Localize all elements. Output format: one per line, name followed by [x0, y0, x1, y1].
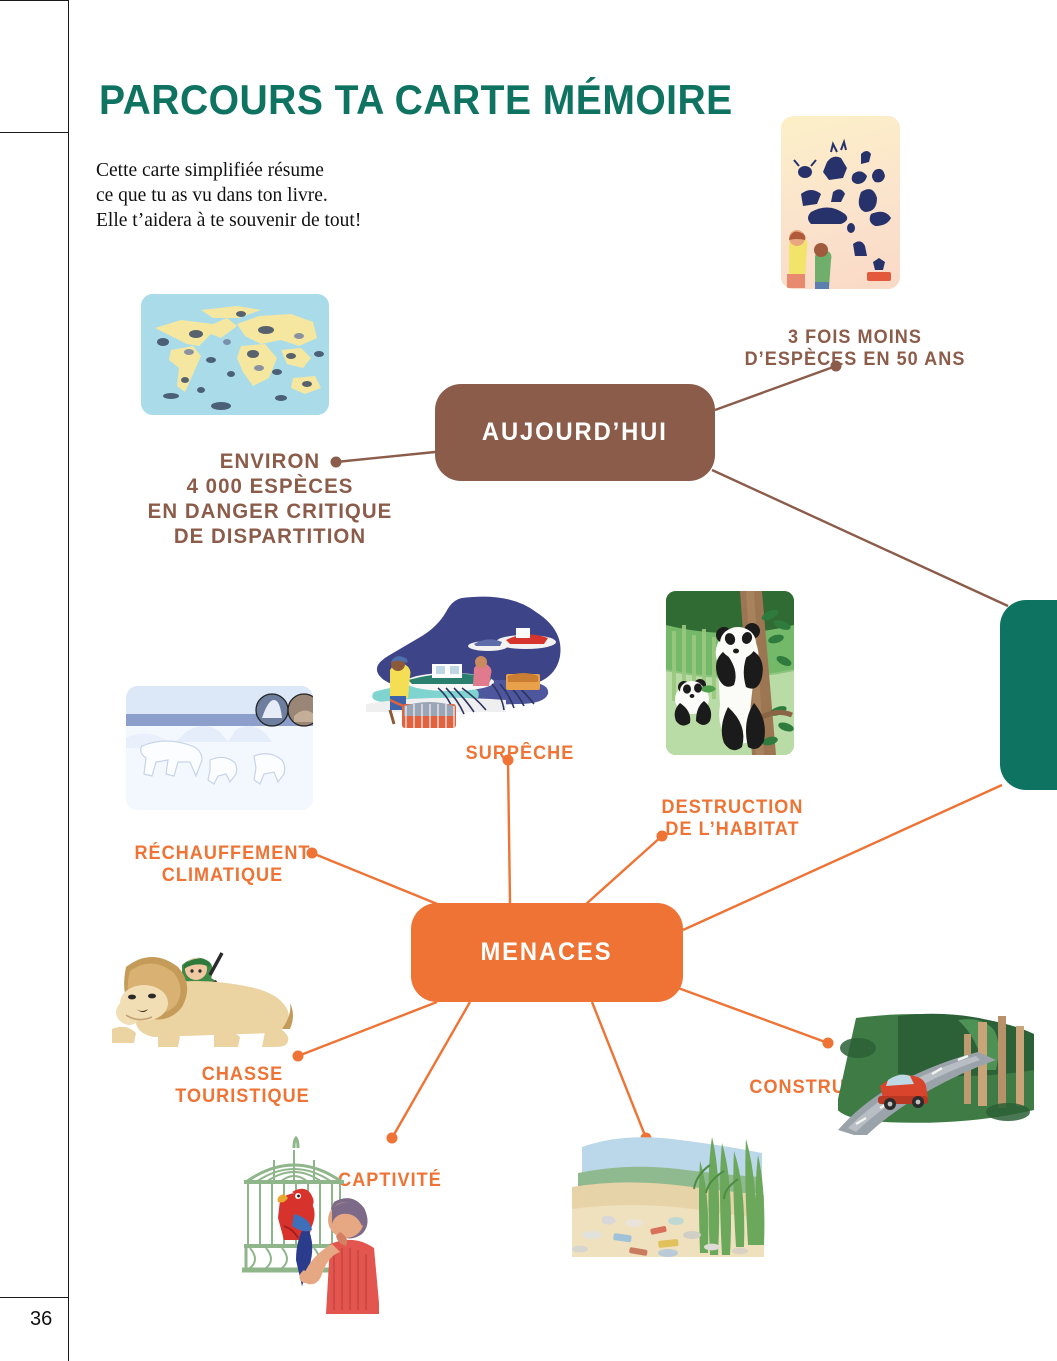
node-aujourdhui-label: AUJOURD’HUI	[482, 418, 668, 447]
node-green-offpage[interactable]	[1000, 600, 1057, 790]
caged-parrot-illustration	[236, 1136, 379, 1314]
connector-dot	[823, 1038, 834, 1049]
road-construction-illustration	[838, 1012, 1034, 1135]
label-rechauffement-climatique: RÉCHAUFFEMENT CLIMATIQUE	[115, 821, 330, 887]
lion-hunter-illustration	[86, 941, 294, 1054]
label-destruction-habitat: DESTRUCTION DE L’HABITAT	[645, 775, 820, 841]
pandas-illustration	[666, 591, 794, 755]
connector-dot	[387, 1133, 398, 1144]
polar-bears-illustration	[126, 686, 313, 810]
label-environ-4000-especes: ENVIRON 4 000 ESPÈCES EN DANGER CRITIQUE…	[120, 424, 420, 549]
node-aujourdhui[interactable]: AUJOURD’HUI	[435, 384, 715, 481]
pollution-illustration	[572, 1125, 765, 1258]
silhouettes-card-illustration	[781, 116, 900, 289]
label-3-fois-moins-especes: 3 FOIS MOINS D’ESPÈCES EN 50 ANS	[730, 305, 980, 371]
overfishing-illustration	[366, 596, 569, 735]
node-menaces-label: MENACES	[481, 938, 613, 967]
worldmap-illustration	[141, 294, 329, 415]
node-menaces[interactable]: MENACES	[411, 903, 683, 1002]
